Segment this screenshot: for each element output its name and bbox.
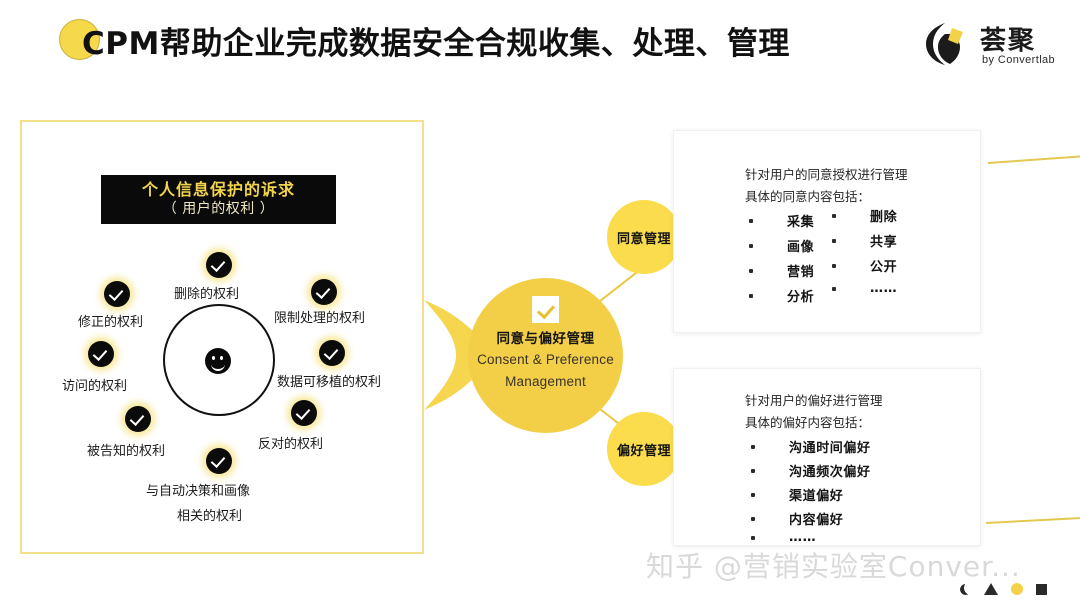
- consent-item: 画像: [749, 236, 814, 255]
- check-circle-icon: [206, 252, 232, 278]
- rights-title-line1: 个人信息保护的诉求: [142, 181, 295, 199]
- checkbox-checked-icon: [532, 296, 559, 323]
- preference-item: 内容偏好: [751, 509, 843, 528]
- check-circle-icon: [104, 281, 130, 307]
- right-label-object: 反对的权利: [258, 433, 323, 452]
- smiley-face-icon: [205, 348, 231, 374]
- consent-item-label: 共享: [870, 231, 897, 250]
- bullet-dot-icon: [832, 264, 836, 268]
- right-label-restrict: 限制处理的权利: [274, 307, 365, 326]
- right-label-portability: 数据可移植的权利: [277, 371, 381, 390]
- watermark-text: 知乎 @营销实验室Conver...: [646, 545, 1021, 585]
- consent-item-label: 营销: [787, 261, 814, 280]
- node-preference-management-label: 偏好管理: [617, 440, 671, 459]
- center-node-consent-preference[interactable]: 同意与偏好管理 Consent & Preference Management: [468, 278, 623, 433]
- check-circle-icon: [206, 448, 232, 474]
- bullet-dot-icon: [832, 214, 836, 218]
- check-circle-icon: [88, 341, 114, 367]
- slide-canvas: CPM帮助企业完成数据安全合规收集、处理、管理 荟聚 by Convertlab…: [0, 0, 1080, 608]
- preference-item: 沟通时间偏好: [751, 437, 871, 456]
- check-circle-icon: [311, 279, 337, 305]
- consent-item: 公开: [832, 256, 897, 275]
- consent-item-label: 公开: [870, 256, 897, 275]
- center-node-title-cn: 同意与偏好管理: [497, 330, 595, 349]
- decor-line-bottom: [986, 517, 1080, 524]
- preference-item: 渠道偏好: [751, 485, 843, 504]
- preference-card-head-line1: 针对用户的偏好进行管理: [745, 390, 883, 412]
- connector-consent: [600, 271, 639, 302]
- node-consent-management[interactable]: 同意管理: [607, 200, 681, 274]
- logo-name-cn: 荟聚: [980, 20, 1036, 57]
- convertlab-leaf-logo-icon: [922, 20, 970, 68]
- rights-panel-title-box: 个人信息保护的诉求 （ 用户的权利 ）: [101, 175, 336, 224]
- bullet-dot-icon: [751, 517, 755, 521]
- consent-item: 采集: [749, 211, 814, 230]
- consent-item: 删除: [832, 206, 897, 225]
- consent-item-label: 采集: [787, 211, 814, 230]
- consent-item-label: ……: [870, 281, 897, 296]
- preference-item-label: ……: [789, 530, 816, 545]
- consent-item: ……: [832, 281, 897, 296]
- rights-title-line2: （ 用户的权利 ）: [163, 201, 274, 218]
- bullet-dot-icon: [751, 469, 755, 473]
- brand-logo: 荟聚 by Convertlab: [922, 18, 1067, 76]
- bullet-dot-icon: [749, 269, 753, 273]
- preference-item-label: 内容偏好: [789, 509, 843, 528]
- right-label-informed: 被告知的权利: [87, 440, 165, 459]
- check-circle-icon: [125, 406, 151, 432]
- preference-item-label: 渠道偏好: [789, 485, 843, 504]
- right-label-automated-2: 相关的权利: [177, 505, 242, 524]
- bullet-dot-icon: [749, 244, 753, 248]
- bullet-dot-icon: [751, 536, 755, 540]
- triangle-icon: [984, 583, 998, 595]
- moon-icon: [960, 584, 971, 595]
- consent-item-label: 分析: [787, 286, 814, 305]
- preference-item-label: 沟通时间偏好: [789, 437, 871, 456]
- square-icon: [1036, 584, 1047, 595]
- bullet-dot-icon: [832, 287, 836, 291]
- watermark-shapes: [960, 583, 1047, 595]
- decor-line-top: [988, 155, 1080, 163]
- right-label-automated-1: 与自动决策和画像: [146, 480, 250, 499]
- consent-item: 共享: [832, 231, 897, 250]
- consent-item-label: 删除: [870, 206, 897, 225]
- consent-item-label: 画像: [787, 236, 814, 255]
- center-node-title-en-2: Management: [505, 371, 586, 393]
- preference-item-label: 沟通频次偏好: [789, 461, 871, 480]
- page-title: CPM帮助企业完成数据安全合规收集、处理、管理: [82, 18, 790, 63]
- preference-item: 沟通频次偏好: [751, 461, 871, 480]
- circle-icon: [1011, 583, 1023, 595]
- bullet-dot-icon: [749, 219, 753, 223]
- node-consent-management-label: 同意管理: [617, 228, 671, 247]
- consent-item: 营销: [749, 261, 814, 280]
- consent-item: 分析: [749, 286, 814, 305]
- bullet-dot-icon: [749, 294, 753, 298]
- right-label-rectify: 修正的权利: [78, 311, 143, 330]
- center-node-title-en-1: Consent & Preference: [477, 349, 614, 371]
- check-circle-icon: [291, 400, 317, 426]
- right-label-access: 访问的权利: [62, 375, 127, 394]
- bullet-dot-icon: [751, 493, 755, 497]
- bullet-dot-icon: [751, 445, 755, 449]
- logo-name-en: by Convertlab: [982, 54, 1055, 66]
- check-circle-icon: [319, 340, 345, 366]
- preference-item: ……: [751, 530, 816, 545]
- consent-card-head-line2: 具体的同意内容包括：: [745, 186, 870, 208]
- consent-card-head-line1: 针对用户的同意授权进行管理: [745, 164, 908, 186]
- consent-detail-card: [673, 130, 981, 333]
- right-label-delete: 删除的权利: [174, 283, 239, 302]
- preference-card-head-line2: 具体的偏好内容包括：: [745, 412, 870, 434]
- bullet-dot-icon: [832, 239, 836, 243]
- node-preference-management[interactable]: 偏好管理: [607, 412, 681, 486]
